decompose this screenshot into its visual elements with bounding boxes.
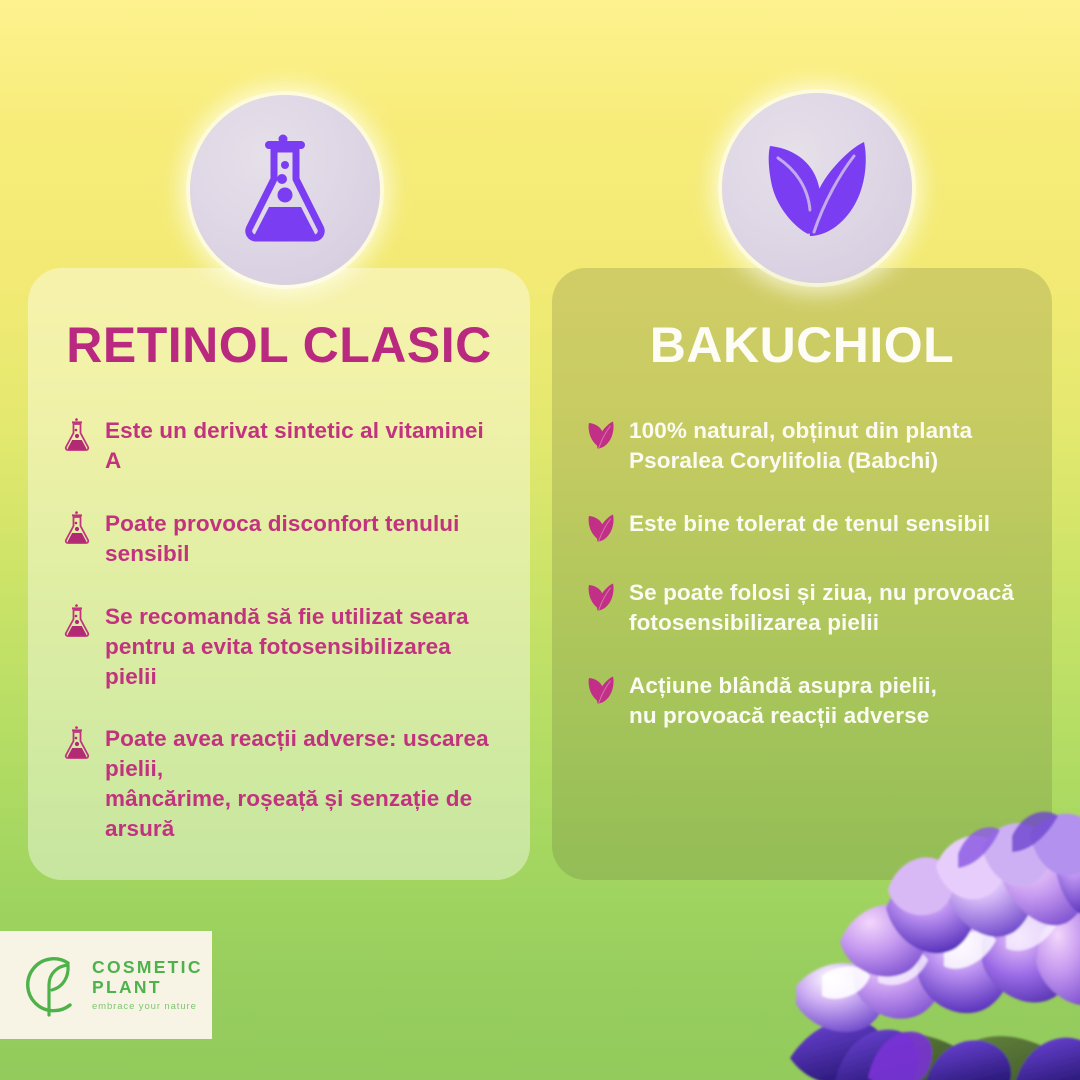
list-item-text: Este un derivat sintetic al vitaminei A: [105, 416, 496, 476]
card-retinol: RETINOL CLASIC Este un derivat sintetic …: [28, 268, 530, 880]
flask-bullet-icon: [62, 726, 92, 760]
logo-wordmark: COSMETIC PLANT embrace your nature: [92, 959, 203, 1012]
bullet-list-bakuchiol: 100% natural, obținut din planta Psorale…: [586, 416, 1018, 731]
list-item-text: Este bine tolerat de tenul sensibil: [629, 509, 990, 539]
infographic-poster: RETINOL CLASIC Este un derivat sintetic …: [0, 0, 1080, 1080]
card-title-retinol: RETINOL CLASIC: [62, 320, 496, 370]
cosmetic-plant-mark-icon: [16, 949, 82, 1021]
logo-tagline: embrace your nature: [92, 1002, 203, 1012]
list-item-text: Poate avea reacții adverse: uscarea piel…: [105, 724, 496, 844]
leaf-bullet-icon: [586, 418, 616, 452]
list-item: 100% natural, obținut din planta Psorale…: [586, 416, 1018, 476]
flask-bullet-icon: [62, 511, 92, 545]
list-item-text: Se poate folosi și ziua, nu provoacă fot…: [629, 578, 1014, 638]
leaf-bullet-icon: [586, 580, 616, 614]
list-item: Se poate folosi și ziua, nu provoacă fot…: [586, 578, 1018, 638]
logo-line-1: COSMETIC: [92, 959, 203, 977]
leaf-bullet-icon: [586, 511, 616, 545]
leaves-icon: [758, 132, 876, 244]
list-item-text: Acțiune blândă asupra pielii, nu provoac…: [629, 671, 937, 731]
card-title-bakuchiol: BAKUCHIOL: [586, 320, 1018, 370]
flask-badge: [190, 95, 380, 285]
list-item-text: 100% natural, obținut din planta Psorale…: [629, 416, 972, 476]
list-item: Poate avea reacții adverse: uscarea piel…: [62, 724, 496, 844]
logo-line-2: PLANT: [92, 979, 203, 997]
flask-bullet-icon: [62, 418, 92, 452]
leaf-bullet-icon: [586, 673, 616, 707]
bullet-list-retinol: Este un derivat sintetic al vitaminei A …: [62, 416, 496, 844]
flask-icon: [233, 131, 337, 249]
list-item-text: Se recomandă să fie utilizat seara pentr…: [105, 602, 496, 692]
brand-logo: COSMETIC PLANT embrace your nature: [0, 931, 212, 1039]
list-item: Acțiune blândă asupra pielii, nu provoac…: [586, 671, 1018, 731]
list-item: Poate provoca disconfort tenului sensibi…: [62, 509, 496, 569]
flask-bullet-icon: [62, 604, 92, 638]
list-item: Este un derivat sintetic al vitaminei A: [62, 416, 496, 476]
list-item: Este bine tolerat de tenul sensibil: [586, 509, 1018, 545]
list-item: Se recomandă să fie utilizat seara pentr…: [62, 602, 496, 692]
card-bakuchiol: BAKUCHIOL 100% natural, obținut din plan…: [552, 268, 1052, 880]
leaf-badge: [722, 93, 912, 283]
list-item-text: Poate provoca disconfort tenului sensibi…: [105, 509, 496, 569]
